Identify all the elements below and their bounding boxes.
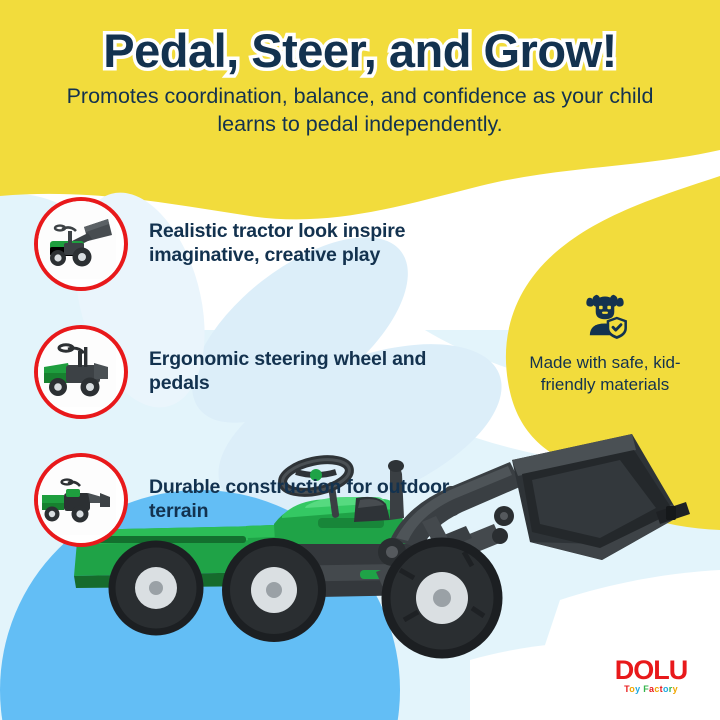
tagline-letter: y [673,684,678,694]
feature-label: Durable construction for outdoor terrain [149,476,454,524]
feature-label: Realistic tractor look inspire imaginati… [149,220,454,268]
brand-tagline: Toy Factory [624,685,678,694]
child-with-shield-check-icon [578,288,632,342]
safety-badge-label: Made with safe, kid-friendly materials [505,352,705,396]
feature-item: Ergonomic steering wheel and pedals [34,324,454,420]
feature-list: Realistic tractor look inspire imaginati… [34,196,454,580]
feature-label: Ergonomic steering wheel and pedals [149,348,454,396]
page-title: Pedal, Steer, and Grow! [103,26,617,75]
brand-name: DOLU [615,657,688,684]
brand-logo: DOLU Toy Factory [596,652,706,698]
header: Pedal, Steer, and Grow! Promotes coordin… [0,0,720,175]
feature-item: Realistic tractor look inspire imaginati… [34,196,454,292]
tractor-loader-raised-thumbnail [34,197,128,291]
feature-item: Durable construction for outdoor terrain [34,452,454,548]
tractor-steering-wheel-thumbnail [34,325,128,419]
loader-bucket [512,434,690,560]
page-subtitle: Promotes coordination, balance, and conf… [40,83,680,138]
tractor-side-profile-thumbnail [34,453,128,547]
safety-badge: Made with safe, kid-friendly materials [505,288,705,396]
infographic-canvas: Pedal, Steer, and Grow! Promotes coordin… [0,0,720,720]
